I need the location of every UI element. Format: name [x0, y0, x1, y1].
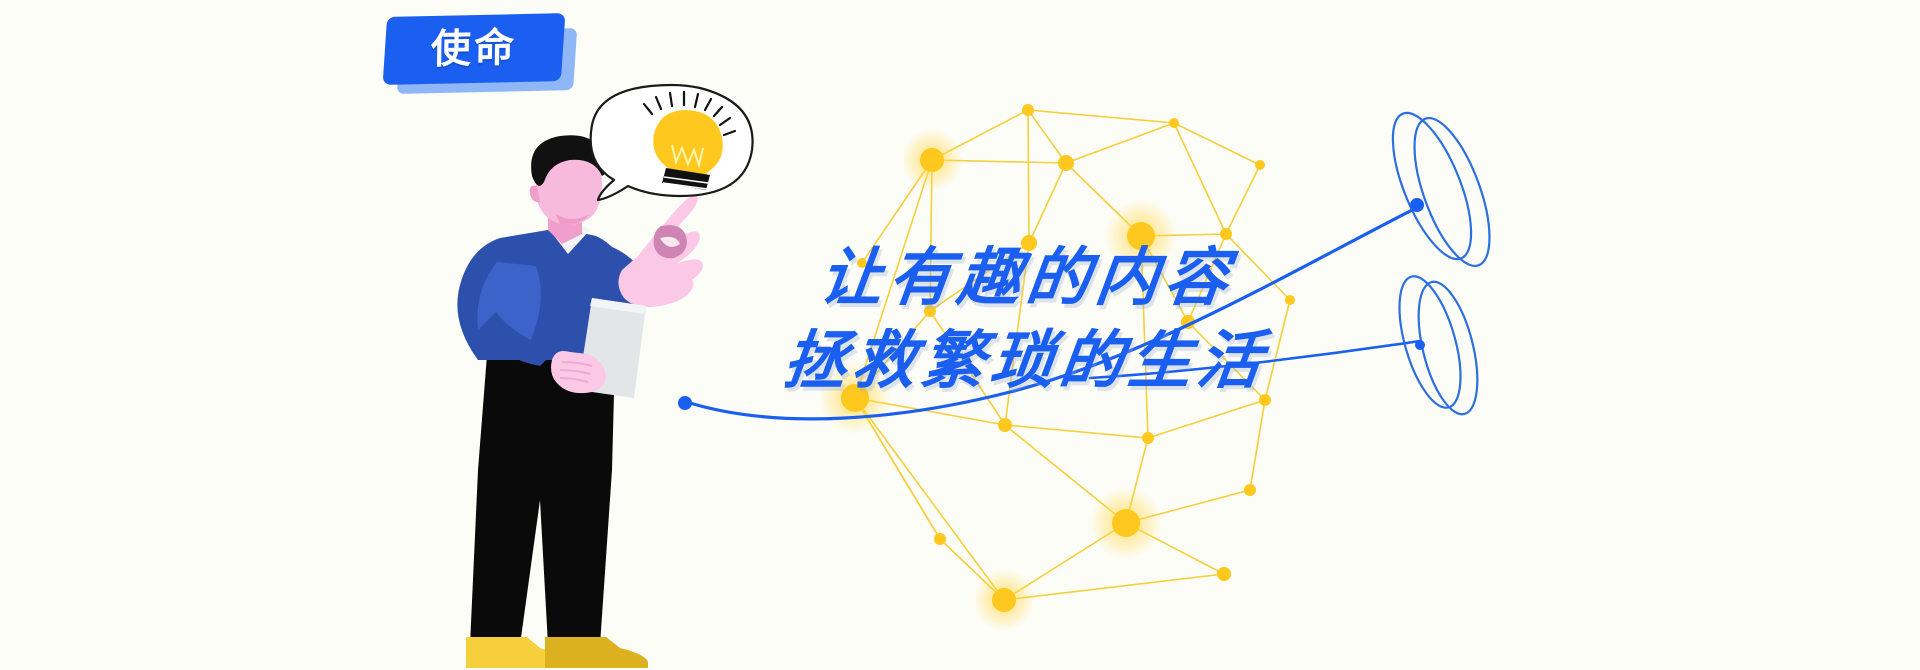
mission-badge-label: 使命 [431, 28, 518, 70]
headline-block: 让有趣的内容 拯救繁琐的生活 [820, 236, 1520, 402]
headline-line-1: 让有趣的内容 [815, 236, 1525, 319]
mission-badge-plate: 使命 [383, 13, 566, 85]
mission-badge[interactable]: 使命 [385, 10, 575, 100]
headline-line-2: 拯救繁琐的生活 [779, 319, 1525, 402]
mission-banner: 使命 让有趣的内容 拯救繁琐的生活 [0, 0, 1920, 670]
